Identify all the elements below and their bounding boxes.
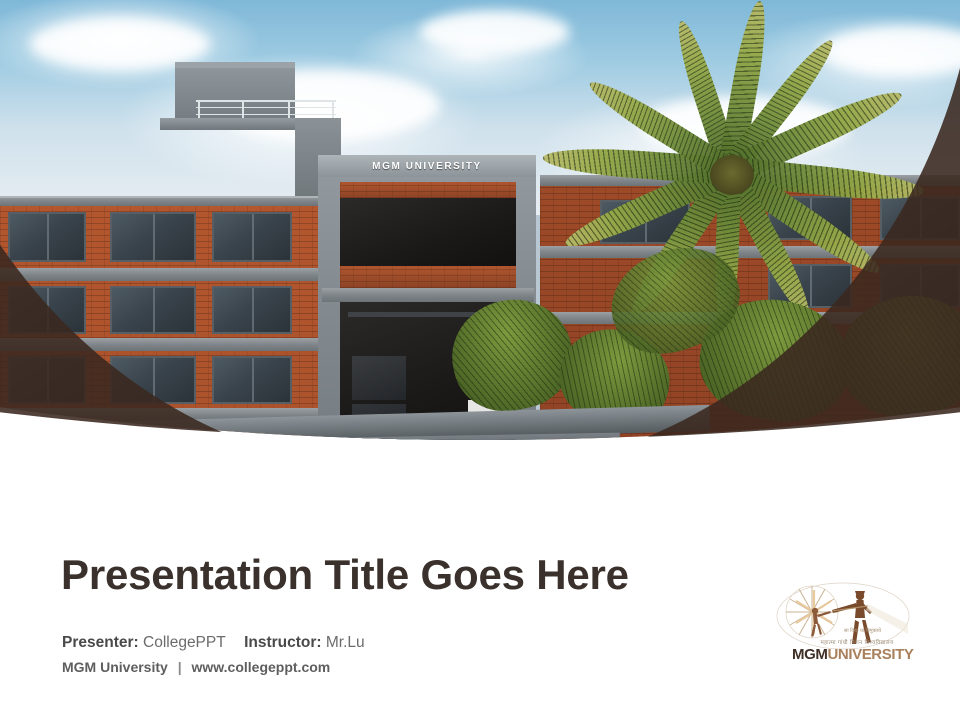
logo-devanagari-motto: सा विद्या या विमुक्तये — [844, 628, 881, 634]
logo-wordmark: MGMUNIVERSITY — [792, 646, 918, 663]
facade-band — [0, 268, 330, 281]
organization-name: MGM University — [62, 659, 168, 675]
photo-curve-clip: MGM UNIVERSITY — [0, 0, 960, 500]
entrance-canopy-lower — [200, 433, 620, 456]
presentation-slide: MGM UNIVERSITY — [0, 0, 960, 720]
presenter-line: Presenter: CollegePPT Instructor: Mr.Lu — [62, 634, 365, 652]
portal-interior-glazing — [352, 356, 406, 400]
organization-line: MGM University | www.collegeppt.com — [62, 659, 330, 675]
campus-photograph: MGM UNIVERSITY — [0, 0, 960, 500]
palm-crown — [710, 155, 754, 195]
window — [110, 212, 196, 262]
window — [212, 212, 292, 262]
page-title: Presentation Title Goes Here — [61, 551, 629, 599]
mgm-university-logo: महात्मा गांधी मिशन विश्वविद्यालय सा विद्… — [768, 576, 918, 676]
facade-band — [0, 338, 330, 351]
separator: | — [172, 659, 188, 675]
rooftop-railing — [196, 100, 336, 118]
logo-devanagari-line: महात्मा गांधी मिशन विश्वविद्यालय — [796, 638, 918, 646]
window — [120, 424, 198, 454]
building-sign: MGM UNIVERSITY — [318, 155, 536, 177]
window — [110, 286, 196, 334]
window — [8, 212, 86, 262]
portal-lintel — [340, 266, 516, 288]
presenter-label: Presenter: — [62, 634, 139, 651]
presenter-value: CollegePPT — [143, 634, 225, 651]
logo-name-primary: MGM — [792, 646, 827, 663]
hero-photo-banner: MGM UNIVERSITY — [0, 0, 960, 500]
logo-name-secondary: UNIVERSITY — [827, 646, 913, 663]
window — [8, 286, 86, 334]
instructor-label: Instructor: — [244, 634, 322, 651]
window — [212, 286, 292, 334]
instructor-value: Mr.Lu — [326, 634, 365, 651]
building-sign-text: MGM UNIVERSITY — [372, 161, 482, 172]
window — [212, 356, 292, 404]
window — [18, 424, 88, 454]
portal-upper-void — [340, 198, 516, 266]
window — [8, 356, 86, 404]
window — [110, 356, 196, 404]
portal-lintel — [340, 182, 516, 198]
website-url[interactable]: www.collegeppt.com — [192, 659, 331, 675]
